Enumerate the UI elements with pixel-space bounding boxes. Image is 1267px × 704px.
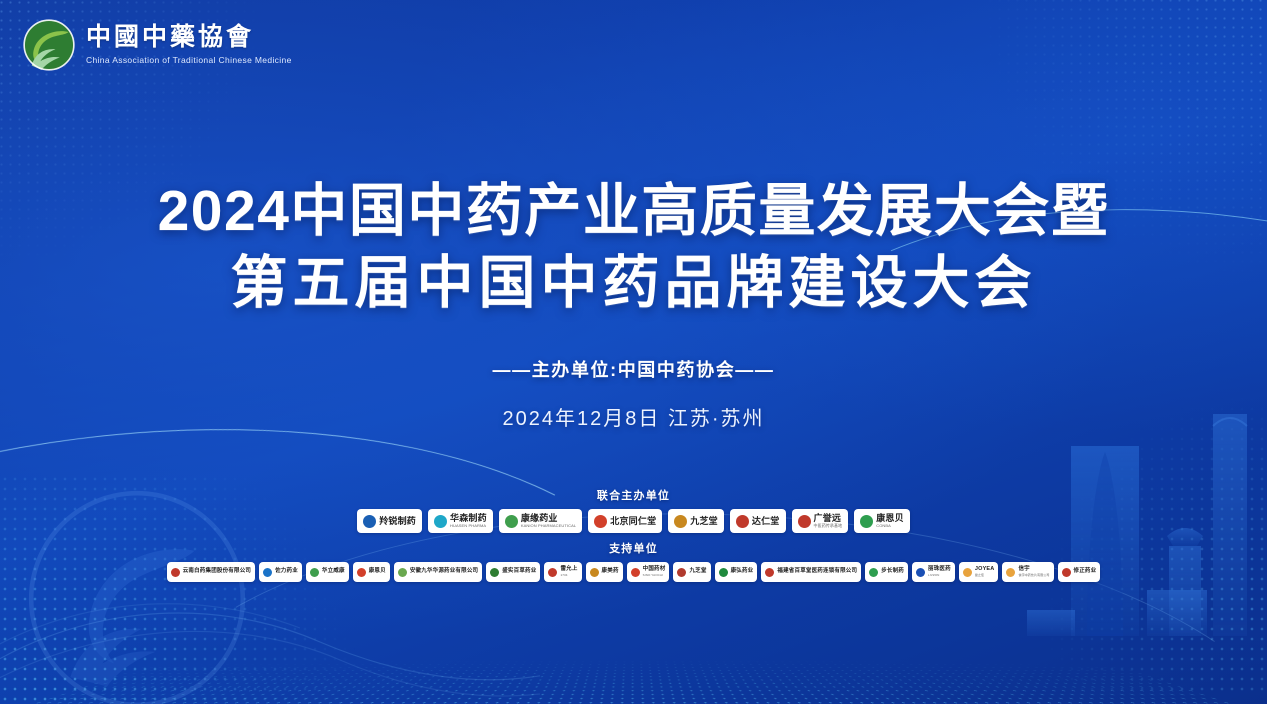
conference-title-line-1: 2024中国中药产业高质量发展大会暨 [0, 176, 1267, 248]
logo-name-cn: 信宇 [1018, 567, 1049, 573]
logo-card: 盛实百草药业 [486, 562, 540, 582]
logo-name-en: 信宇中药饮片有限公司 [1018, 574, 1049, 577]
logo-name-cn: 九芝堂 [690, 517, 718, 526]
logo-name-cn: 盛实百草药业 [502, 569, 536, 575]
kangmei-square-mark-icon [590, 568, 599, 577]
logo-card: 修正药业 [1058, 562, 1101, 582]
logo-card: 华立威康 [306, 562, 349, 582]
logo-card: 福建省百草堂医药连锁有限公司 [761, 562, 861, 582]
zhongguoyaocai-pillar-mark-icon [631, 568, 640, 577]
logo-name-cn: 华森制药 [450, 514, 487, 523]
logo-name-cn: 雷允上 [560, 567, 577, 573]
logo-card: 安徽九华华源药业有限公司 [394, 562, 482, 582]
logo-card: 中国药材SINO YAOCAI [627, 562, 670, 582]
co-organizer-logo-row: 羚锐制药华森制药HUASEN PHARMA康缘药业KANION PHARMACE… [0, 509, 1267, 533]
association-logo: 中國中藥協會 China Association of Traditional … [22, 18, 292, 72]
conba-person-mark-icon [860, 515, 873, 528]
logo-card: 康恩贝 [353, 562, 390, 582]
conference-banner: 中國中藥協會 China Association of Traditional … [0, 0, 1267, 704]
logo-card: 羚锐制药 [357, 509, 422, 533]
logo-name-cn: 中国药材 [643, 567, 666, 573]
yunnanbaiyao-mark-icon [171, 568, 180, 577]
logo-card: 北京同仁堂 [588, 509, 662, 533]
logo-name-en: SINO YAOCAI [643, 574, 666, 577]
logo-name-cn: 华立威康 [322, 569, 345, 575]
logo-name-cn: 广誉远 [814, 514, 843, 523]
logo-name-en: 中医药传承基地 [814, 524, 843, 528]
logo-card: 信宇信宇中药饮片有限公司 [1002, 562, 1053, 582]
logo-card: 华森制药HUASEN PHARMA [428, 509, 493, 533]
association-name-en: China Association of Traditional Chinese… [86, 55, 292, 65]
wave-ribbon-decoration [0, 564, 540, 704]
baicaotang-mark-icon [765, 568, 774, 577]
huasen-cross-mark-icon [434, 515, 447, 528]
logo-name-cn: 康缘药业 [521, 514, 576, 523]
sponsor-section: 联合主办单位 羚锐制药华森制药HUASEN PHARMA康缘药业KANION P… [0, 487, 1267, 582]
title-block: 2024中国中药产业高质量发展大会暨 第五届中国中药品牌建设大会 ——主办单位:… [0, 176, 1267, 431]
logo-name-cn: 康恩贝 [369, 569, 386, 575]
guangyuyuan-square-seal-icon [798, 515, 811, 528]
round-seal-mark-icon [677, 568, 686, 577]
logo-card: 康美药 [586, 562, 623, 582]
logo-card: 广誉远中医药传承基地 [792, 509, 849, 533]
darentang-round-mark-icon [736, 515, 749, 528]
logo-name-en: HUASEN PHARMA [450, 524, 487, 528]
joyea-wordmark-icon [963, 568, 972, 577]
logo-name-cn: 云南白药集团股份有限公司 [183, 569, 251, 575]
crescent-mark-icon [357, 568, 366, 577]
logo-name-cn: 福建省百草堂医药连锁有限公司 [777, 569, 857, 575]
date-location-line: 2024年12月8日 江苏·苏州 [0, 402, 1267, 431]
logo-name-cn: 佐力药业 [275, 569, 298, 575]
logo-name-cn: 安徽九华华源药业有限公司 [410, 569, 478, 575]
logo-name-cn: 北京同仁堂 [610, 517, 656, 526]
association-name-cn: 中國中藥協會 [86, 25, 292, 51]
kanghong-flag-mark-icon [719, 568, 728, 577]
tongrentang-round-seal-icon [594, 515, 607, 528]
livzon-globe-mark-icon [916, 568, 925, 577]
logo-name-en: LIVZON [928, 574, 951, 577]
logo-name-en: KANION PHARMACEUTICAL [521, 524, 576, 528]
logo-card: 雷允上1734 [544, 562, 581, 582]
zuoli-ring-mark-icon [263, 568, 272, 577]
logo-name-en: 1734 [560, 574, 577, 577]
buchang-cross-mark-icon [869, 568, 878, 577]
jiuhua-leaf-mark-icon [398, 568, 407, 577]
logo-name-cn: JOYEA [975, 567, 995, 573]
supporter-logo-row: 云南白药集团股份有限公司佐力药业华立威康康恩贝安徽九华华源药业有限公司盛实百草药… [0, 562, 1267, 582]
logo-card: 九芝堂 [673, 562, 710, 582]
conference-title-line-2: 第五届中国中药品牌建设大会 [0, 248, 1267, 320]
logo-card: 佐力药业 [259, 562, 302, 582]
kanion-leaf-mark-icon [505, 515, 518, 528]
mw-wave-mark-icon [490, 568, 499, 577]
logo-name-cn: 康恩贝 [876, 514, 904, 523]
logo-name-cn: 修正药业 [1074, 569, 1097, 575]
co-organizers-label: 联合主办单位 [0, 487, 1267, 503]
xiuzheng-seal-mark-icon [1062, 568, 1071, 577]
logo-name-en: 健之佳 [975, 574, 995, 577]
logo-name-cn: 丽珠医药 [928, 567, 951, 573]
logo-name-cn: 九芝堂 [689, 569, 706, 575]
logo-name-cn: 达仁堂 [752, 517, 780, 526]
huali-leaf-mark-icon [310, 568, 319, 577]
leiyunshang-seal-icon [548, 568, 557, 577]
logo-name-cn: 康弘药业 [731, 569, 754, 575]
logo-card: 康弘药业 [715, 562, 758, 582]
logo-name-cn: 康美药 [602, 569, 619, 575]
logo-card: JOYEA健之佳 [959, 562, 999, 582]
jiuzhitang-round-mark-icon [674, 515, 687, 528]
organizer-line: ——主办单位:中国中药协会—— [0, 356, 1267, 382]
logo-card: 云南白药集团股份有限公司 [167, 562, 255, 582]
lingrui-r-mark-icon [363, 515, 376, 528]
logo-card: 九芝堂 [668, 509, 724, 533]
logo-name-en: CONBA [876, 524, 904, 528]
supporters-label: 支持单位 [0, 540, 1267, 556]
logo-name-cn: 步长制药 [881, 569, 904, 575]
logo-card: 步长制药 [865, 562, 908, 582]
caatcm-leaf-hand-circle-icon [22, 18, 76, 72]
xinyu-drop-mark-icon [1006, 568, 1015, 577]
logo-card: 康恩贝CONBA [854, 509, 910, 533]
logo-card: 丽珠医药LIVZON [912, 562, 955, 582]
logo-card: 康缘药业KANION PHARMACEUTICAL [499, 509, 582, 533]
dot-mesh-bottom [0, 648, 1267, 704]
logo-name-cn: 羚锐制药 [379, 517, 416, 526]
logo-card: 达仁堂 [730, 509, 786, 533]
